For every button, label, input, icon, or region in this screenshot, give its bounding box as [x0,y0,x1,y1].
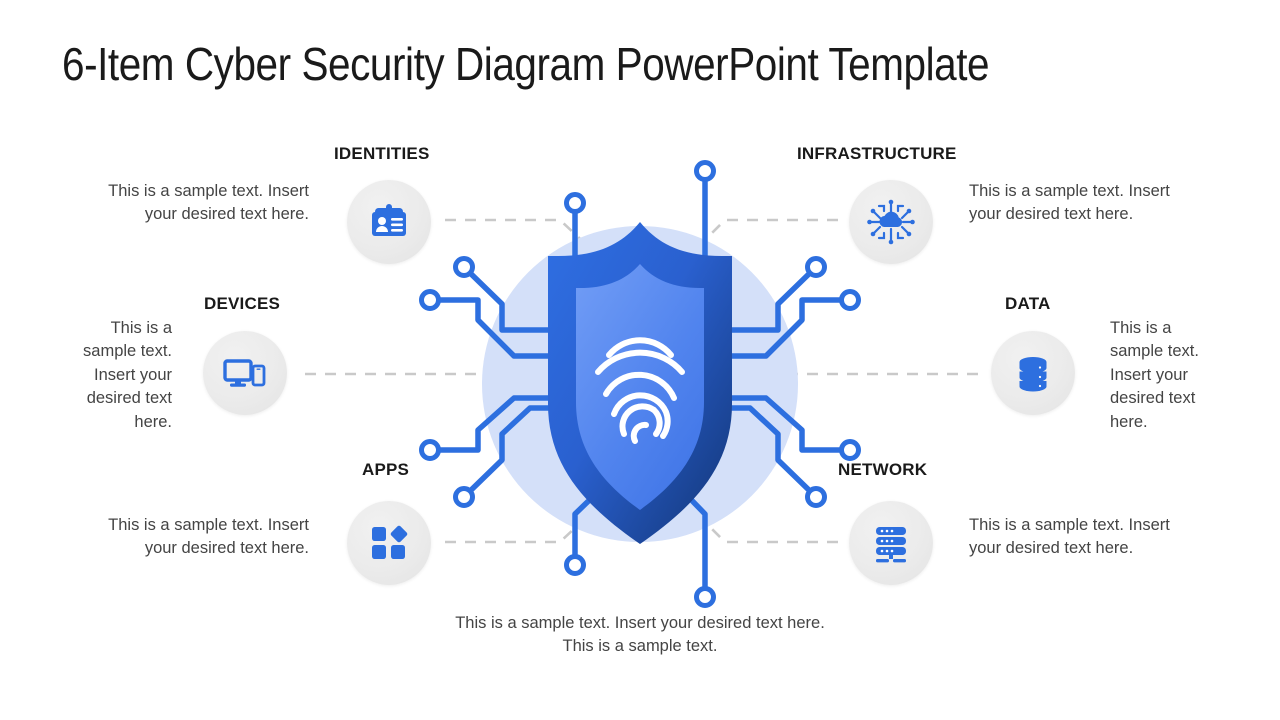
node-text-network: This is a sample text. Insert your desir… [969,514,1184,561]
id-badge-icon [367,200,411,244]
node-text-apps: This is a sample text. Insert your desir… [97,514,309,561]
circuit-node [567,195,584,212]
bottom-caption: This is a sample text. Insert your desir… [440,612,840,659]
node-label-apps: APPS [362,460,409,480]
node-label-identities: IDENTITIES [334,144,430,164]
node-icon-infrastructure[interactable] [849,180,933,264]
node-label-infrastructure: INFRASTRUCTURE [797,144,957,164]
node-text-devices: This is a sample text. Insert your desir… [55,317,172,434]
circuit-node [842,292,859,309]
node-label-network: NETWORK [838,460,927,480]
node-icon-identities[interactable] [347,180,431,264]
circuit-node [697,589,714,606]
node-icon-apps[interactable] [347,501,431,585]
circuit-node [456,259,473,276]
circuit-node [422,292,439,309]
node-label-data: DATA [1005,294,1051,314]
circuit-node [808,489,825,506]
database-icon [1013,351,1053,395]
circuit-node [697,163,714,180]
center-shield-graphic [408,152,872,616]
page-title: 6-Item Cyber Security Diagram PowerPoint… [62,40,989,88]
cloud-network-icon [867,198,915,246]
app-grid-icon [368,522,410,564]
circuit-node [567,557,584,574]
node-icon-devices[interactable] [203,331,287,415]
monitor-phone-icon [222,351,268,395]
node-icon-network[interactable] [849,501,933,585]
slide-canvas: 6-Item Cyber Security Diagram PowerPoint… [0,0,1280,720]
server-rack-icon [869,521,913,565]
node-text-data: This is a sample text. Insert your desir… [1110,317,1222,434]
circuit-node [842,442,859,459]
node-icon-data[interactable] [991,331,1075,415]
node-label-devices: DEVICES [204,294,280,314]
circuit-node [456,489,473,506]
node-text-infrastructure: This is a sample text. Insert your desir… [969,180,1184,227]
circuit-node [422,442,439,459]
circuit-node [808,259,825,276]
node-text-identities: This is a sample text. Insert your desir… [97,180,309,227]
